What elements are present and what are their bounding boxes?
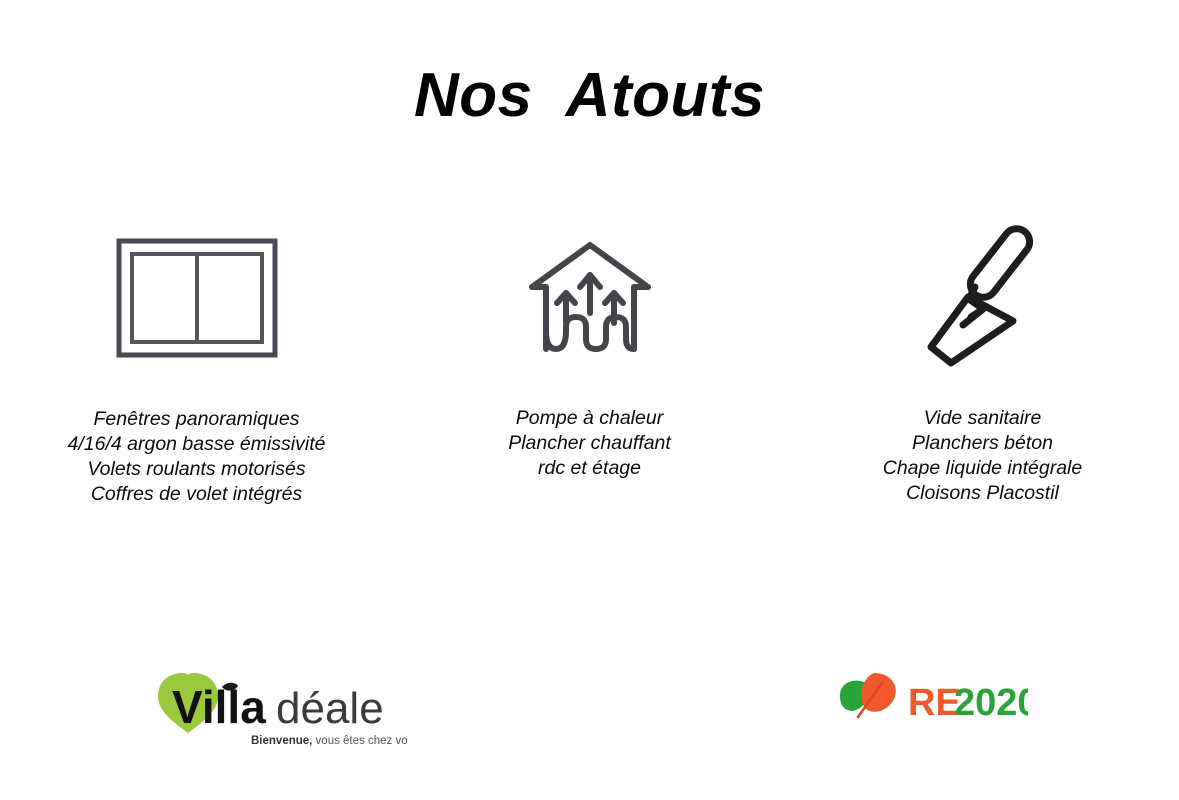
feature-line: Fenêtres panoramiques	[68, 407, 326, 432]
feature-text-windows: Fenêtres panoramiques 4/16/4 argon basse…	[68, 407, 326, 507]
window-icon	[115, 215, 279, 380]
feature-line: Vide sanitaire	[883, 406, 1082, 431]
feature-line: Chape liquide intégrale	[883, 456, 1082, 481]
feature-line: Coffres de volet intégrés	[68, 482, 326, 507]
re2020-label-secondary: 2020	[954, 682, 1028, 724]
svg-text:Bienvenue, vous êtes chez vous: Bienvenue, vous êtes chez vous !	[251, 735, 408, 747]
re2020-label-primary: RE	[908, 682, 961, 724]
feature-text-heating: Pompe à chaleur Plancher chauffant rdc e…	[508, 406, 671, 481]
villadeale-word-primary: Villa	[172, 681, 266, 733]
feature-text-masonry: Vide sanitaire Planchers béton Chape liq…	[883, 406, 1082, 506]
feature-line: Cloisons Placostil	[883, 481, 1082, 506]
villadeale-tagline-bold: Bienvenue,	[251, 735, 312, 747]
villadeale-tagline-rest: vous êtes chez vous !	[312, 735, 408, 747]
feature-line: 4/16/4 argon basse émissivité	[68, 432, 326, 457]
feature-column-windows: Fenêtres panoramiques 4/16/4 argon basse…	[0, 215, 393, 507]
feature-line: Pompe à chaleur	[508, 406, 671, 431]
feature-columns: Fenêtres panoramiques 4/16/4 argon basse…	[0, 215, 1179, 555]
feature-line: Volets roulants motorisés	[68, 457, 326, 482]
feature-column-masonry: Vide sanitaire Planchers béton Chape liq…	[786, 215, 1179, 506]
trowel-icon	[913, 215, 1053, 380]
villadeale-logo: Villa déale Bienvenue, vous êtes chez vo…	[148, 663, 408, 753]
page-title: Nos Atouts	[0, 62, 1179, 130]
feature-column-heating: Pompe à chaleur Plancher chauffant rdc e…	[393, 215, 786, 481]
feature-line: Plancher chauffant	[508, 431, 671, 456]
feature-line: Planchers béton	[883, 431, 1082, 456]
house-heat-pump-icon	[520, 215, 660, 380]
footer-logos: Villa déale Bienvenue, vous êtes chez vo…	[0, 655, 1179, 765]
feature-line: rdc et étage	[508, 456, 671, 481]
re2020-logo: RE 2020	[828, 665, 1028, 740]
slide-root: Nos Atouts Fenêtres panoramiques 4/16/4 …	[0, 0, 1179, 800]
villadeale-word-secondary: déale	[276, 684, 384, 733]
